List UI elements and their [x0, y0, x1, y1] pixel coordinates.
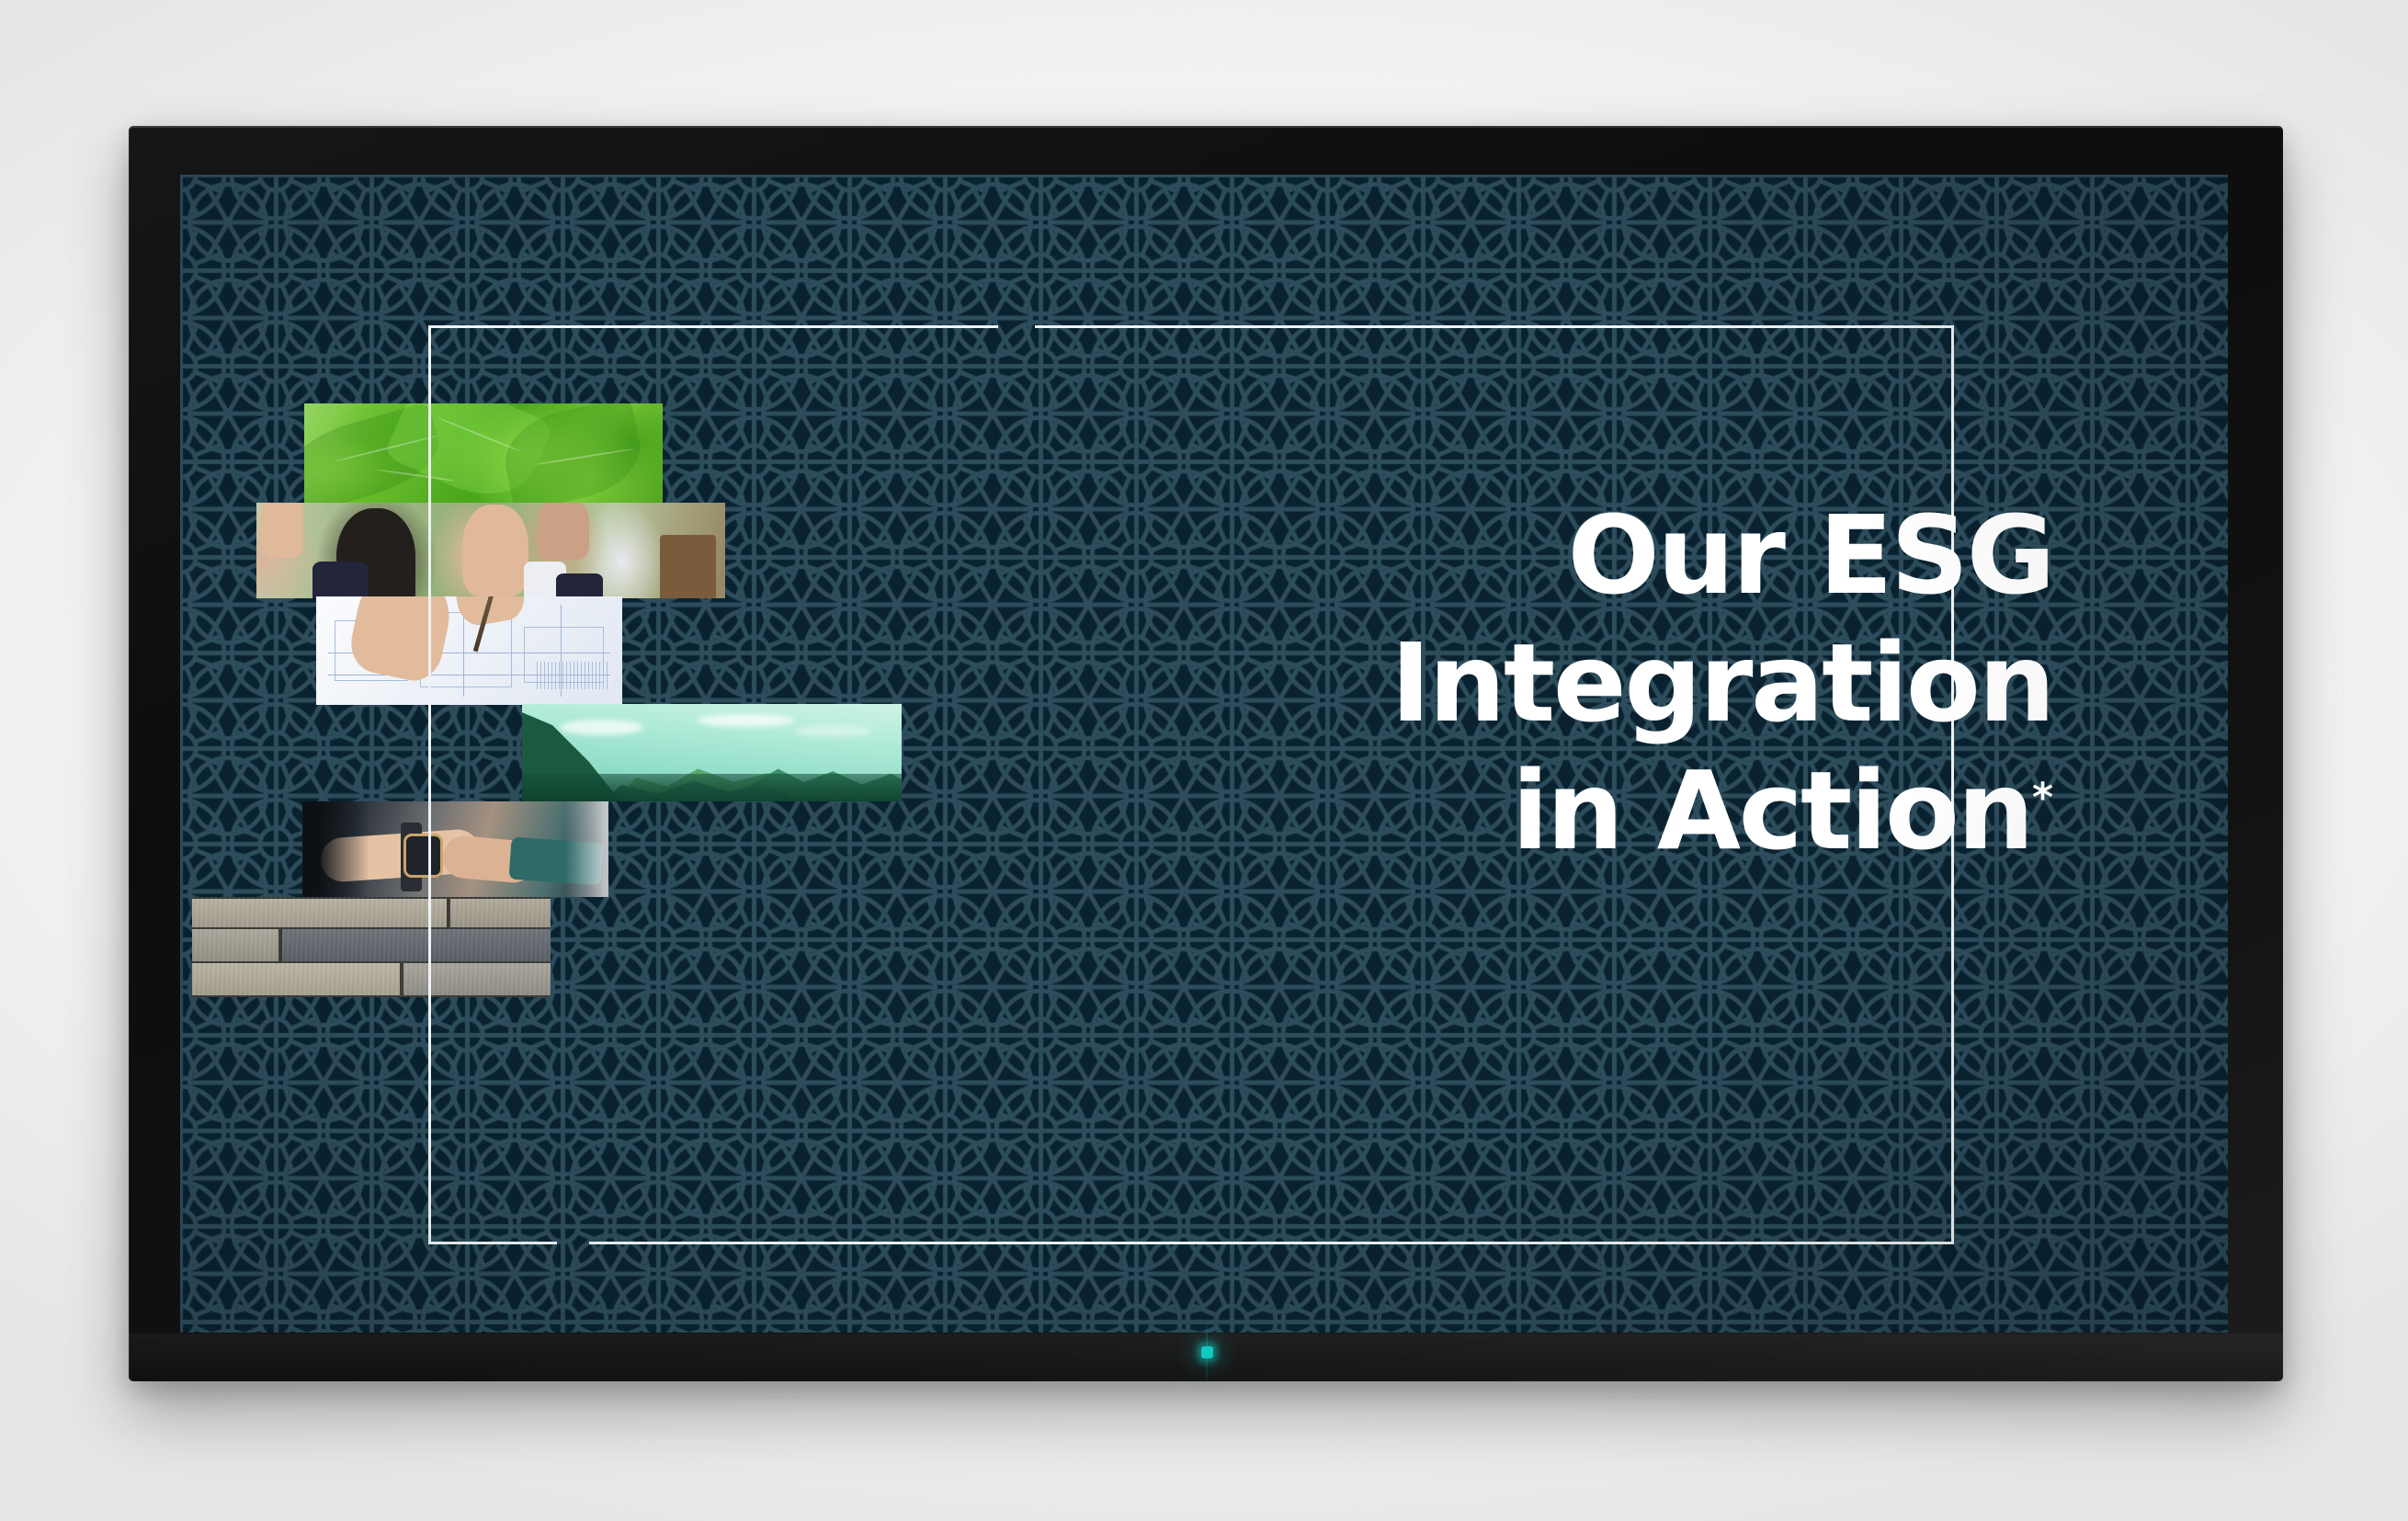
suit-sleeve	[556, 573, 603, 598]
smartwatch	[403, 834, 443, 878]
frame-line-top-right	[1035, 325, 1954, 328]
frame-line-bottom-left	[428, 1242, 557, 1244]
raised-hand	[462, 505, 528, 596]
footnote-asterisk: *	[2032, 775, 2053, 822]
frame-line-left	[428, 325, 431, 1244]
power-led-indicator	[1201, 1346, 1213, 1358]
bright-vignette	[565, 801, 608, 897]
blueprint-hatch	[537, 662, 610, 690]
person-head-light-hair	[538, 503, 589, 560]
slide-title: Our ESG Integration in Action*	[831, 492, 2053, 876]
cloud	[560, 720, 643, 735]
collage-image-blueprint	[316, 596, 622, 705]
title-line-3-text: in Action	[1512, 747, 2032, 874]
collage-image-leaves	[304, 403, 663, 505]
title-line-3: in Action*	[831, 747, 2053, 875]
collage-image-wall	[192, 897, 551, 997]
frame-line-bottom-right	[589, 1242, 1954, 1244]
stone-grain	[192, 897, 551, 997]
collage-image-meeting	[256, 503, 725, 598]
collage-image-handshake	[302, 801, 608, 897]
suit-shoulder	[312, 562, 369, 598]
frame-line-top-left	[428, 325, 998, 328]
screen-surface[interactable]: Our ESG Integration in Action*	[180, 175, 2228, 1333]
dark-vignette	[302, 801, 369, 897]
title-line-1: Our ESG	[831, 492, 2053, 619]
wood-panel	[660, 535, 716, 598]
tv-display-device: Our ESG Integration in Action*	[129, 126, 2283, 1381]
title-line-2: Integration	[831, 619, 2053, 747]
raised-hand	[261, 503, 303, 558]
